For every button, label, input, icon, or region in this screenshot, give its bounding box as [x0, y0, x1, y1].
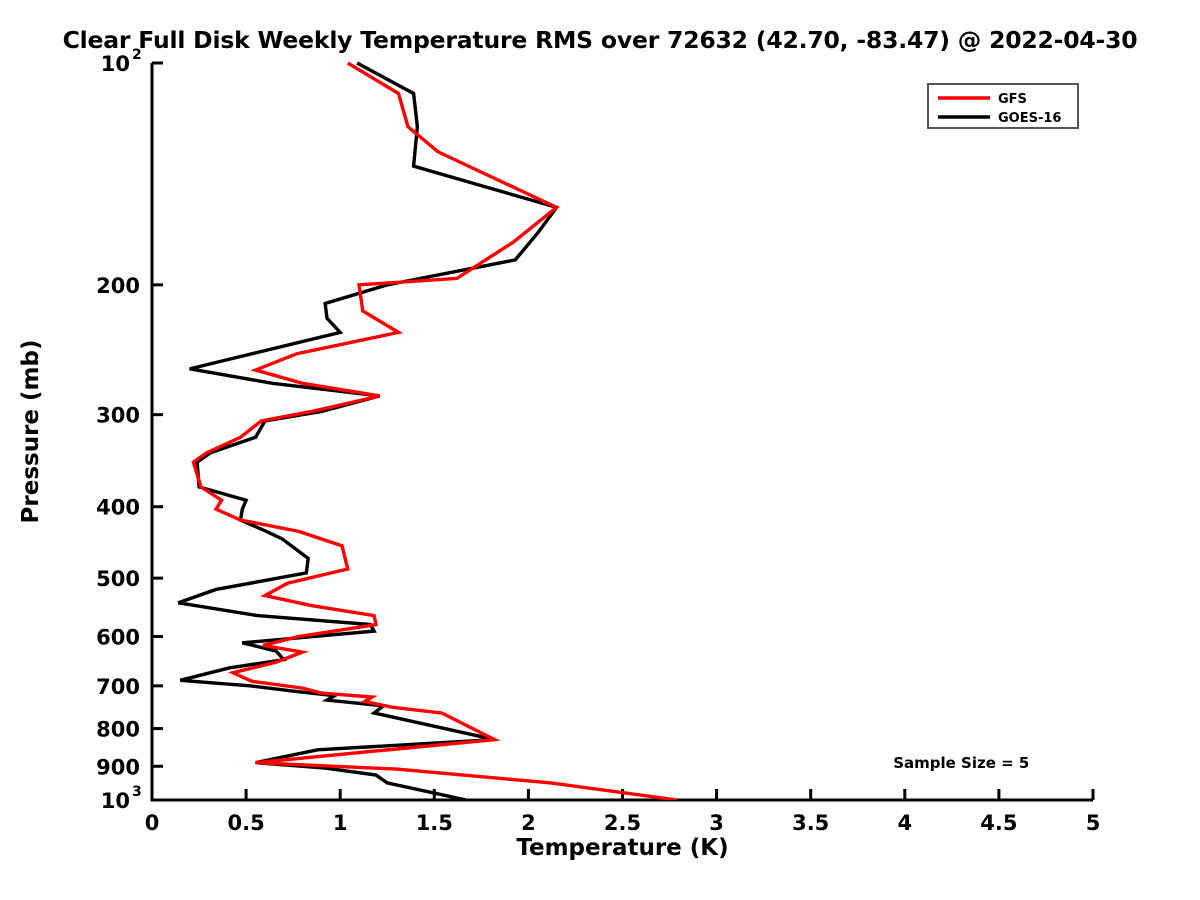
legend-group[interactable]: GFSGOES-16: [928, 84, 1078, 128]
x-tick-label: 0: [145, 811, 160, 835]
x-tick-label: 1.5: [416, 811, 453, 835]
series-group: [178, 63, 677, 800]
y-tick-label: 700: [96, 675, 140, 699]
axis-group: 00.511.522.533.544.551022003004005006007…: [18, 47, 1100, 861]
y-tick-label: 10: [101, 789, 130, 813]
annotation-group: Sample Size = 5: [893, 754, 1029, 772]
x-tick-label: 2: [521, 811, 536, 835]
x-tick-label: 2.5: [604, 811, 641, 835]
x-tick-label: 3.5: [792, 811, 829, 835]
x-tick-label: 1: [333, 811, 348, 835]
x-tick-label: 0.5: [227, 811, 264, 835]
y-tick-label: 500: [96, 567, 140, 591]
y-tick-label: 800: [96, 718, 140, 742]
legend-label-gfs: GFS: [998, 92, 1027, 107]
legend-label-goes-16: GOES-16: [998, 111, 1061, 126]
y-tick-label-exponent: 3: [132, 784, 142, 800]
y-tick-label: 900: [96, 755, 140, 779]
x-tick-label: 5: [1086, 811, 1101, 835]
x-tick-label: 4.5: [980, 811, 1017, 835]
temperature-rms-profile-chart: 00.511.522.533.544.551022003004005006007…: [0, 0, 1200, 900]
x-axis-title: Temperature (K): [516, 835, 728, 861]
y-tick-label: 600: [96, 625, 140, 649]
y-tick-label: 400: [96, 496, 140, 520]
y-tick-label-exponent: 2: [132, 47, 142, 63]
y-tick-label: 10: [101, 52, 130, 76]
x-tick-label: 3: [709, 811, 724, 835]
y-axis-title: Pressure (mb): [18, 340, 44, 524]
series-line-goes-16: [178, 63, 556, 800]
x-tick-label: 4: [897, 811, 912, 835]
y-tick-label: 200: [96, 274, 140, 298]
sample-size-annotation: Sample Size = 5: [893, 754, 1029, 772]
y-tick-label: 300: [96, 404, 140, 428]
figure-container: Clear Full Disk Weekly Temperature RMS o…: [0, 0, 1200, 900]
